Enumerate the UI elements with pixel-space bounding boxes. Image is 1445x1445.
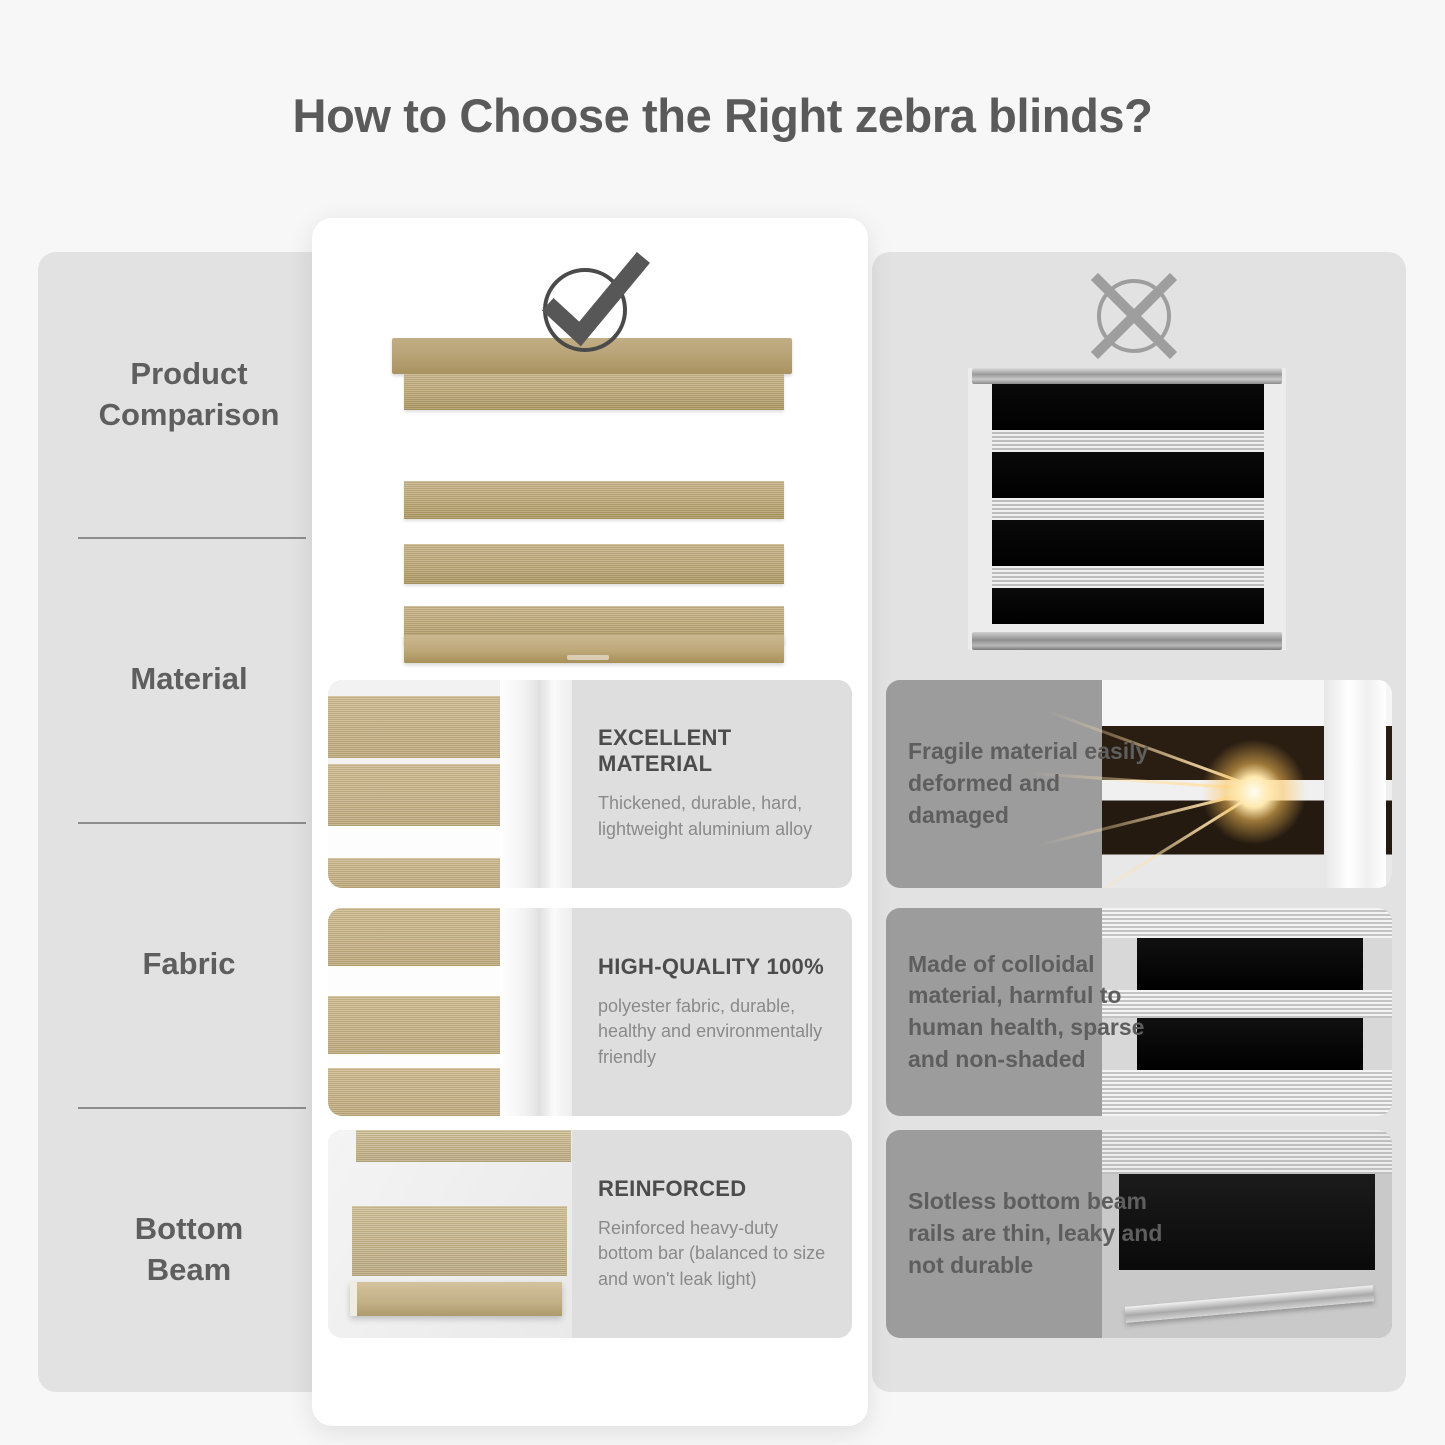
reinforced-bottom-beam [350,1282,562,1316]
good-panel-fabric: HIGH-QUALITY 100% polyester fabric, dura… [328,908,852,1116]
feature-copy: Made of colloidal material, harmful to h… [886,908,1171,1116]
sheer-gap [328,1054,514,1068]
feature-copy: Slotless bottom beam rails are thin, lea… [886,1130,1171,1338]
cross-circle-icon [1086,268,1182,364]
check-circle-icon [532,248,652,358]
row-label-text: Material [114,659,263,700]
tan-fabric-band [404,374,784,410]
tan-blind-fabric-photo [328,908,572,1116]
row-label-material: Material [38,537,340,822]
row-label-fabric: Fabric [38,822,340,1107]
tan-bottom-beam-photo [328,1130,572,1338]
row-label-card: Product Comparison Material Fabric Botto… [38,252,340,1392]
window-frame [500,908,572,1116]
row-label-line1: Fabric [142,946,235,981]
row-label-line1: Bottom [135,1211,243,1246]
feature-description: Slotless bottom beam rails are thin, lea… [908,1186,1165,1281]
feature-description: Thickened, durable, hard, lightweight al… [598,791,828,842]
row-label-text: Bottom Beam [119,1209,259,1291]
black-zebra-blind-product [968,368,1286,650]
row-label-line2: Beam [147,1252,231,1287]
row-label-product-comparison: Product Comparison [38,252,340,537]
sheer-gap [328,966,514,996]
bad-panel-bottom-beam: Slotless bottom beam rails are thin, lea… [886,1130,1392,1338]
tan-slat [328,996,514,1054]
feature-description: Reinforced heavy-duty bottom bar (balanc… [598,1216,828,1293]
black-sheer-band [992,430,1264,452]
tan-fabric-band [404,481,784,519]
tan-slat [328,908,514,966]
black-bottom-rail [972,632,1282,650]
feature-description: Made of colloidal material, harmful to h… [908,949,1165,1076]
row-label-line1: Product [130,356,247,391]
bad-panel-fabric: Made of colloidal material, harmful to h… [886,908,1392,1116]
tan-slat [328,764,514,826]
feature-description: Fragile material easily deformed and dam… [908,736,1165,831]
feature-copy: REINFORCED Reinforced heavy-duty bottom … [572,1130,852,1338]
row-label-text: Fabric [126,944,251,985]
tan-bottom-rail [404,635,784,663]
window-frame [500,680,572,888]
row-label-bottom-beam: Bottom Beam [38,1107,340,1392]
window-jamb [1324,680,1386,888]
black-opaque-band [992,452,1264,498]
row-label-list: Product Comparison Material Fabric Botto… [38,252,340,1392]
sun-flare [1194,732,1314,852]
row-label-text: Product Comparison [83,354,296,436]
black-opaque-band [992,520,1264,566]
comparison-stage: Product Comparison Material Fabric Botto… [0,0,1445,1445]
feature-description: polyester fabric, durable, healthy and e… [598,994,828,1071]
row-label-line2: Comparison [99,397,280,432]
tan-zebra-blind-product [382,338,794,670]
feature-title: HIGH-QUALITY 100% [598,954,828,980]
tan-slat [328,858,514,888]
black-headrail [972,368,1282,384]
feature-copy: Fragile material easily deformed and dam… [886,680,1171,888]
feature-title: REINFORCED [598,1176,828,1202]
tan-slat [328,696,514,758]
sheer-gap [328,826,514,858]
black-opaque-band [992,384,1264,430]
feature-copy: HIGH-QUALITY 100% polyester fabric, dura… [572,908,852,1116]
tan-slat [328,1068,514,1116]
row-label-line1: Material [130,661,247,696]
black-sheer-band [992,566,1264,588]
tan-fabric-band [404,544,784,584]
bad-panel-material: Fragile material easily deformed and dam… [886,680,1392,888]
tan-blind-closeup-photo [328,680,572,888]
black-fabric-body [992,384,1264,624]
tan-slat [356,1130,571,1162]
black-opaque-band [992,588,1264,624]
feature-copy: EXCELLENT MATERIAL Thickened, durable, h… [572,680,852,888]
good-panel-bottom-beam: REINFORCED Reinforced heavy-duty bottom … [328,1130,852,1338]
feature-title: EXCELLENT MATERIAL [598,725,828,777]
tan-slat [352,1206,567,1276]
good-panel-material: EXCELLENT MATERIAL Thickened, durable, h… [328,680,852,888]
black-sheer-band [992,498,1264,520]
